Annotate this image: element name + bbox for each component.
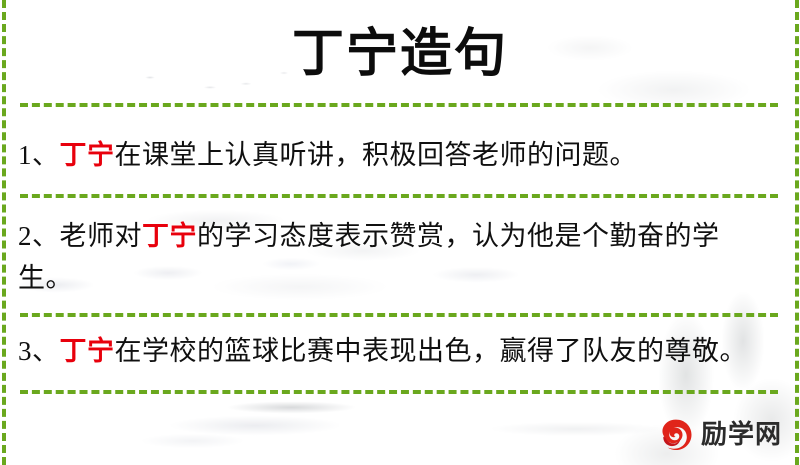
sentence-text-after-1: 在课堂上认真听讲，积极回答老师的问题。 <box>115 140 638 170</box>
sentence-item-3: 3、丁宁在学校的篮球比赛中表现出色，赢得了队友的尊敬。 <box>18 330 770 372</box>
sentence-text-after-3: 在学校的篮球比赛中表现出色，赢得了队友的尊敬。 <box>115 336 748 366</box>
ink-wash-boat <box>110 392 440 462</box>
sentence-item-2: 2、老师对丁宁的学习态度表示赞赏，认为他是个勤奋的学生。 <box>18 215 770 299</box>
dashed-separator-after-sentence-2 <box>20 313 778 317</box>
site-watermark-text: 励学网 <box>701 420 782 450</box>
dashed-separator-below-title <box>20 103 778 107</box>
keyword-highlight-3: 丁宁 <box>60 336 115 366</box>
keyword-highlight-1: 丁宁 <box>60 140 115 170</box>
sentence-index-2: 2、 <box>18 221 60 251</box>
ink-wash-background-bottom-right <box>420 405 680 465</box>
dashed-separator-after-sentence-3 <box>20 390 778 394</box>
page-title: 丁宁造句 <box>0 18 800 90</box>
site-watermark-logo: 励学网 <box>658 415 782 455</box>
dashed-separator-after-sentence-1 <box>20 194 778 198</box>
sentence-index-1: 1、 <box>18 140 60 170</box>
sentence-text-before-2: 老师对 <box>60 221 143 251</box>
red-swirl-icon <box>658 417 694 453</box>
sentence-index-3: 3、 <box>18 336 60 366</box>
keyword-highlight-2: 丁宁 <box>142 221 197 251</box>
sentence-worksheet-page: 丁宁造句 1、丁宁在课堂上认真听讲，积极回答老师的问题。 2、老师对丁宁的学习态… <box>0 0 800 465</box>
sentence-item-1: 1、丁宁在课堂上认真听讲，积极回答老师的问题。 <box>18 134 770 176</box>
